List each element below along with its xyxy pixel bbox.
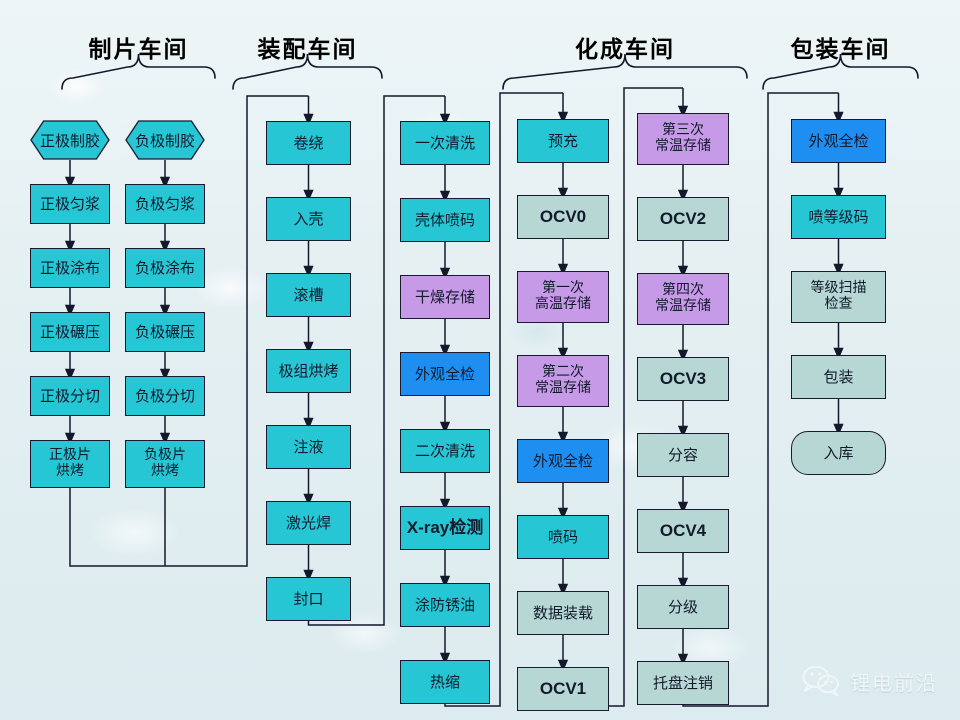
node-label: 正极涂布 [40, 260, 100, 277]
node-label: 数据装载 [533, 605, 593, 622]
process-node-assembly-step-7[interactable]: 封口 [266, 577, 351, 621]
node-label: OCV0 [540, 207, 586, 226]
process-node-formation-a-step-7[interactable]: 数据装载 [517, 591, 609, 635]
process-node-packing-step-3[interactable]: 等级扫描 检查 [791, 271, 886, 323]
node-label: OCV1 [540, 679, 586, 698]
process-node-packing-step-4[interactable]: 包装 [791, 355, 886, 399]
process-node-cleaning-step-3[interactable]: 干燥存储 [400, 275, 490, 319]
node-label: 喷码 [548, 529, 578, 546]
process-node-cleaning-step-5[interactable]: 二次清洗 [400, 429, 490, 473]
process-node-cathode-step-3[interactable]: 正极涂布 [30, 248, 110, 288]
watermark-label: 锂电前沿 [850, 667, 938, 696]
node-label: 包装 [823, 369, 853, 386]
process-node-cleaning-step-8[interactable]: 热缩 [400, 660, 490, 704]
process-node-anode-step-2[interactable]: 负极匀浆 [125, 184, 205, 224]
node-label: 分级 [668, 599, 698, 616]
node-label: 负极涂布 [135, 260, 195, 277]
node-label: 正极片 烘烤 [49, 448, 91, 479]
process-node-formation-a-step-3[interactable]: 第一次 高温存储 [517, 271, 609, 323]
node-label: 入壳 [293, 211, 323, 228]
process-node-formation-b-step-3[interactable]: 第四次 常温存储 [637, 273, 729, 325]
process-node-cathode-step-6[interactable]: 正极片 烘烤 [30, 440, 110, 488]
process-node-anode-step-5[interactable]: 负极分切 [125, 376, 205, 416]
node-label: 封口 [293, 591, 323, 608]
node-label: 第一次 高温存储 [535, 281, 591, 312]
node-label: 外观全检 [533, 453, 593, 470]
node-label: 激光焊 [286, 515, 331, 532]
node-label: 壳体喷码 [415, 212, 475, 229]
process-node-packing-step-1[interactable]: 外观全检 [791, 119, 886, 163]
process-node-assembly-step-1[interactable]: 卷绕 [266, 121, 351, 165]
node-label: 正极分切 [40, 388, 100, 405]
node-label: 正极匀浆 [40, 196, 100, 213]
process-node-formation-b-step-7[interactable]: 分级 [637, 585, 729, 629]
process-node-cathode-step-4[interactable]: 正极碾压 [30, 312, 110, 352]
node-label: 外观全检 [808, 133, 868, 150]
process-node-assembly-step-5[interactable]: 注液 [266, 425, 351, 469]
node-label: 喷等级码 [808, 209, 868, 226]
node-label: OCV4 [660, 521, 706, 540]
process-node-formation-b-step-5[interactable]: 分容 [637, 433, 729, 477]
process-node-formation-b-step-8[interactable]: 托盘注销 [637, 661, 729, 705]
node-label: 注液 [293, 439, 323, 456]
node-label: 卷绕 [293, 135, 323, 152]
node-label: 一次清洗 [415, 135, 475, 152]
node-label: OCV3 [660, 369, 706, 388]
node-label: 涂防锈油 [415, 597, 475, 614]
node-label: 正极制胶 [40, 130, 100, 151]
node-label: 负极制胶 [135, 130, 195, 151]
node-label: 干燥存储 [415, 289, 475, 306]
node-label: X-ray检测 [407, 518, 484, 537]
node-label: 第四次 常温存储 [655, 283, 711, 314]
node-label: 等级扫描 检查 [811, 281, 867, 312]
node-label: 预充 [548, 133, 578, 150]
node-label: 分容 [668, 447, 698, 464]
process-node-assembly-step-4[interactable]: 极组烘烤 [266, 349, 351, 393]
process-node-anode-step-4[interactable]: 负极碾压 [125, 312, 205, 352]
node-label: OCV2 [660, 209, 706, 228]
watermark: 锂电前沿 [801, 664, 938, 698]
section-header-sheet: 制片车间 [62, 30, 215, 64]
node-label: 负极分切 [135, 388, 195, 405]
process-node-assembly-step-6[interactable]: 激光焊 [266, 501, 351, 545]
node-label: 正极碾压 [40, 324, 100, 341]
node-label: 滚槽 [293, 287, 323, 304]
process-node-cathode-step-5[interactable]: 正极分切 [30, 376, 110, 416]
process-node-formation-a-step-8[interactable]: OCV1 [517, 667, 609, 711]
section-header-packing: 包装车间 [763, 30, 918, 64]
process-node-packing-step-2[interactable]: 喷等级码 [791, 195, 886, 239]
section-header-assembly: 装配车间 [233, 30, 382, 64]
process-node-cathode-step-1[interactable]: 正极制胶 [30, 120, 110, 160]
process-node-cleaning-step-4[interactable]: 外观全检 [400, 352, 490, 396]
node-label: 第二次 常温存储 [535, 365, 591, 396]
process-node-cleaning-step-6[interactable]: X-ray检测 [400, 506, 490, 550]
node-label: 热缩 [430, 674, 460, 691]
process-node-anode-step-1[interactable]: 负极制胶 [125, 120, 205, 160]
process-node-packing-step-5[interactable]: 入库 [791, 431, 886, 475]
node-label: 负极匀浆 [135, 196, 195, 213]
process-node-assembly-step-3[interactable]: 滚槽 [266, 273, 351, 317]
node-label: 外观全检 [415, 366, 475, 383]
process-node-anode-step-6[interactable]: 负极片 烘烤 [125, 440, 205, 488]
process-node-formation-a-step-2[interactable]: OCV0 [517, 195, 609, 239]
process-node-cleaning-step-1[interactable]: 一次清洗 [400, 121, 490, 165]
node-label: 负极碾压 [135, 324, 195, 341]
process-node-formation-b-step-2[interactable]: OCV2 [637, 197, 729, 241]
node-label: 二次清洗 [415, 443, 475, 460]
node-label: 负极片 烘烤 [144, 448, 186, 479]
process-node-formation-b-step-4[interactable]: OCV3 [637, 357, 729, 401]
node-label: 托盘注销 [653, 675, 713, 692]
process-node-formation-a-step-6[interactable]: 喷码 [517, 515, 609, 559]
node-label: 第三次 常温存储 [655, 123, 711, 154]
process-node-anode-step-3[interactable]: 负极涂布 [125, 248, 205, 288]
process-node-formation-b-step-6[interactable]: OCV4 [637, 509, 729, 553]
process-node-cleaning-step-2[interactable]: 壳体喷码 [400, 198, 490, 242]
node-label: 极组烘烤 [278, 363, 338, 380]
section-header-formation: 化成车间 [503, 30, 747, 64]
process-node-cathode-step-2[interactable]: 正极匀浆 [30, 184, 110, 224]
wechat-icon [801, 664, 841, 698]
process-node-formation-a-step-4[interactable]: 第二次 常温存储 [517, 355, 609, 407]
process-node-formation-a-step-1[interactable]: 预充 [517, 119, 609, 163]
process-node-formation-a-step-5[interactable]: 外观全检 [517, 439, 609, 483]
process-node-cleaning-step-7[interactable]: 涂防锈油 [400, 583, 490, 627]
node-label: 入库 [823, 445, 853, 462]
process-node-assembly-step-2[interactable]: 入壳 [266, 197, 351, 241]
process-node-formation-b-step-1[interactable]: 第三次 常温存储 [637, 113, 729, 165]
